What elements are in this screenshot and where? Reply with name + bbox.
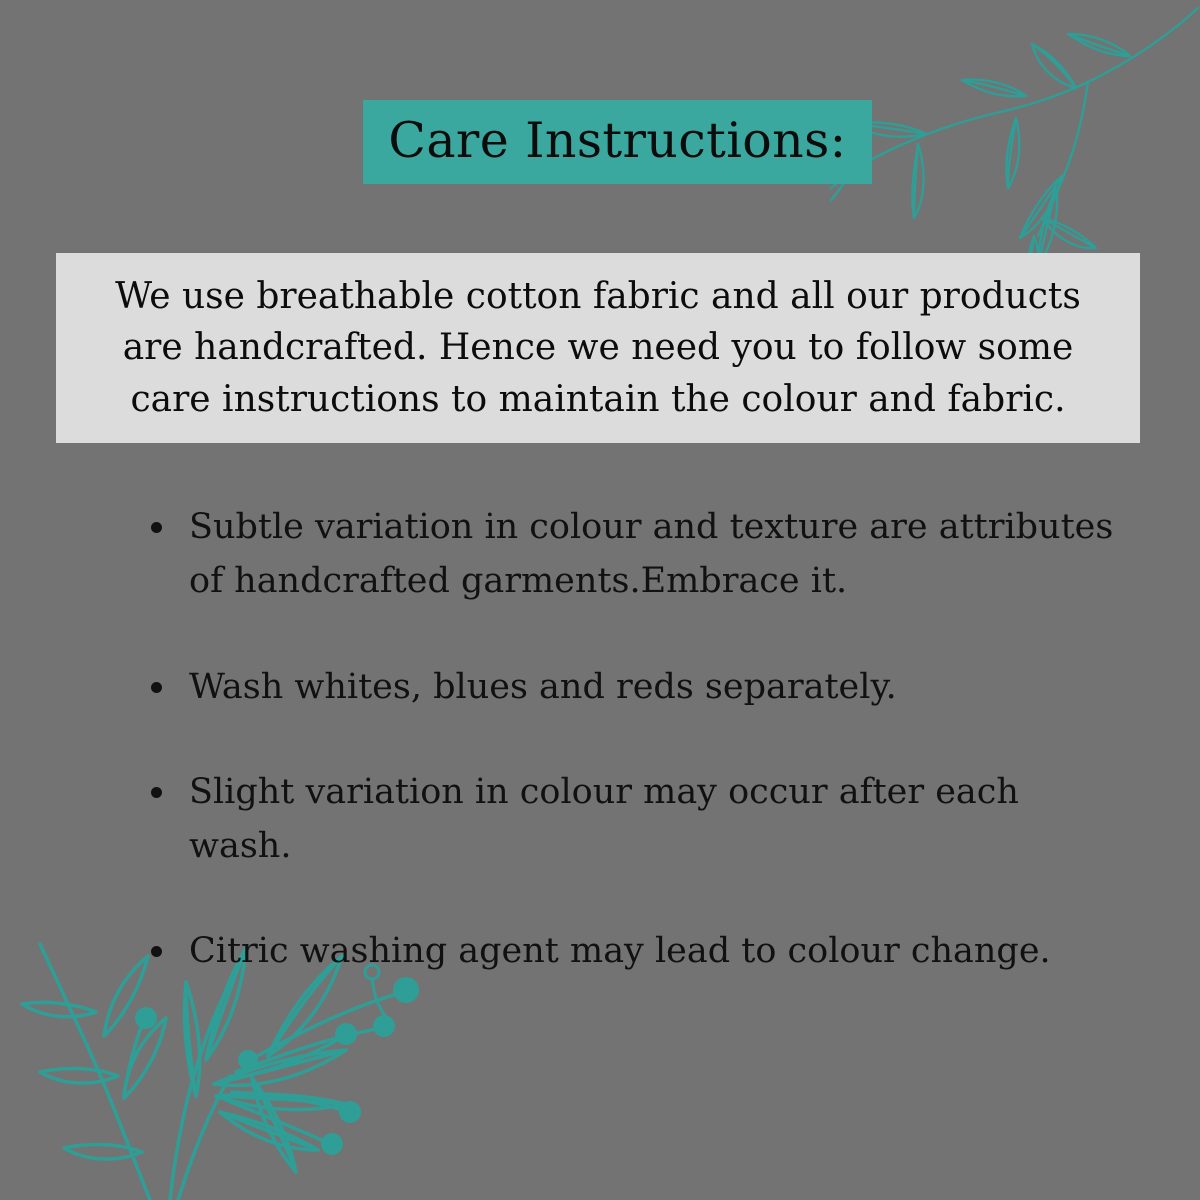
bullet-icon (151, 522, 162, 533)
care-instructions-list: Subtle variation in colour and texture a… (145, 500, 1130, 979)
list-item: Subtle variation in colour and texture a… (145, 500, 1130, 609)
intro-card: We use breathable cotton fabric and all … (56, 253, 1140, 443)
intro-paragraph: We use breathable cotton fabric and all … (73, 271, 1124, 424)
bullet-icon (151, 787, 162, 798)
title-banner: Care Instructions: (363, 100, 872, 184)
list-item: Wash whites, blues and reds separately. (145, 660, 1130, 714)
care-instructions-poster: Care Instructions: We use breathable cot… (0, 0, 1200, 1200)
page-title: Care Instructions: (388, 116, 846, 165)
bullet-icon (151, 946, 162, 957)
list-item-label: Slight variation in colour may occur aft… (189, 772, 1019, 866)
list-item: Citric washing agent may lead to colour … (145, 924, 1130, 978)
list-item-label: Subtle variation in colour and texture a… (189, 507, 1113, 601)
bullet-icon (151, 682, 162, 693)
list-item: Slight variation in colour may occur aft… (145, 765, 1130, 874)
list-item-label: Citric washing agent may lead to colour … (189, 931, 1051, 971)
list-item-label: Wash whites, blues and reds separately. (189, 667, 897, 707)
